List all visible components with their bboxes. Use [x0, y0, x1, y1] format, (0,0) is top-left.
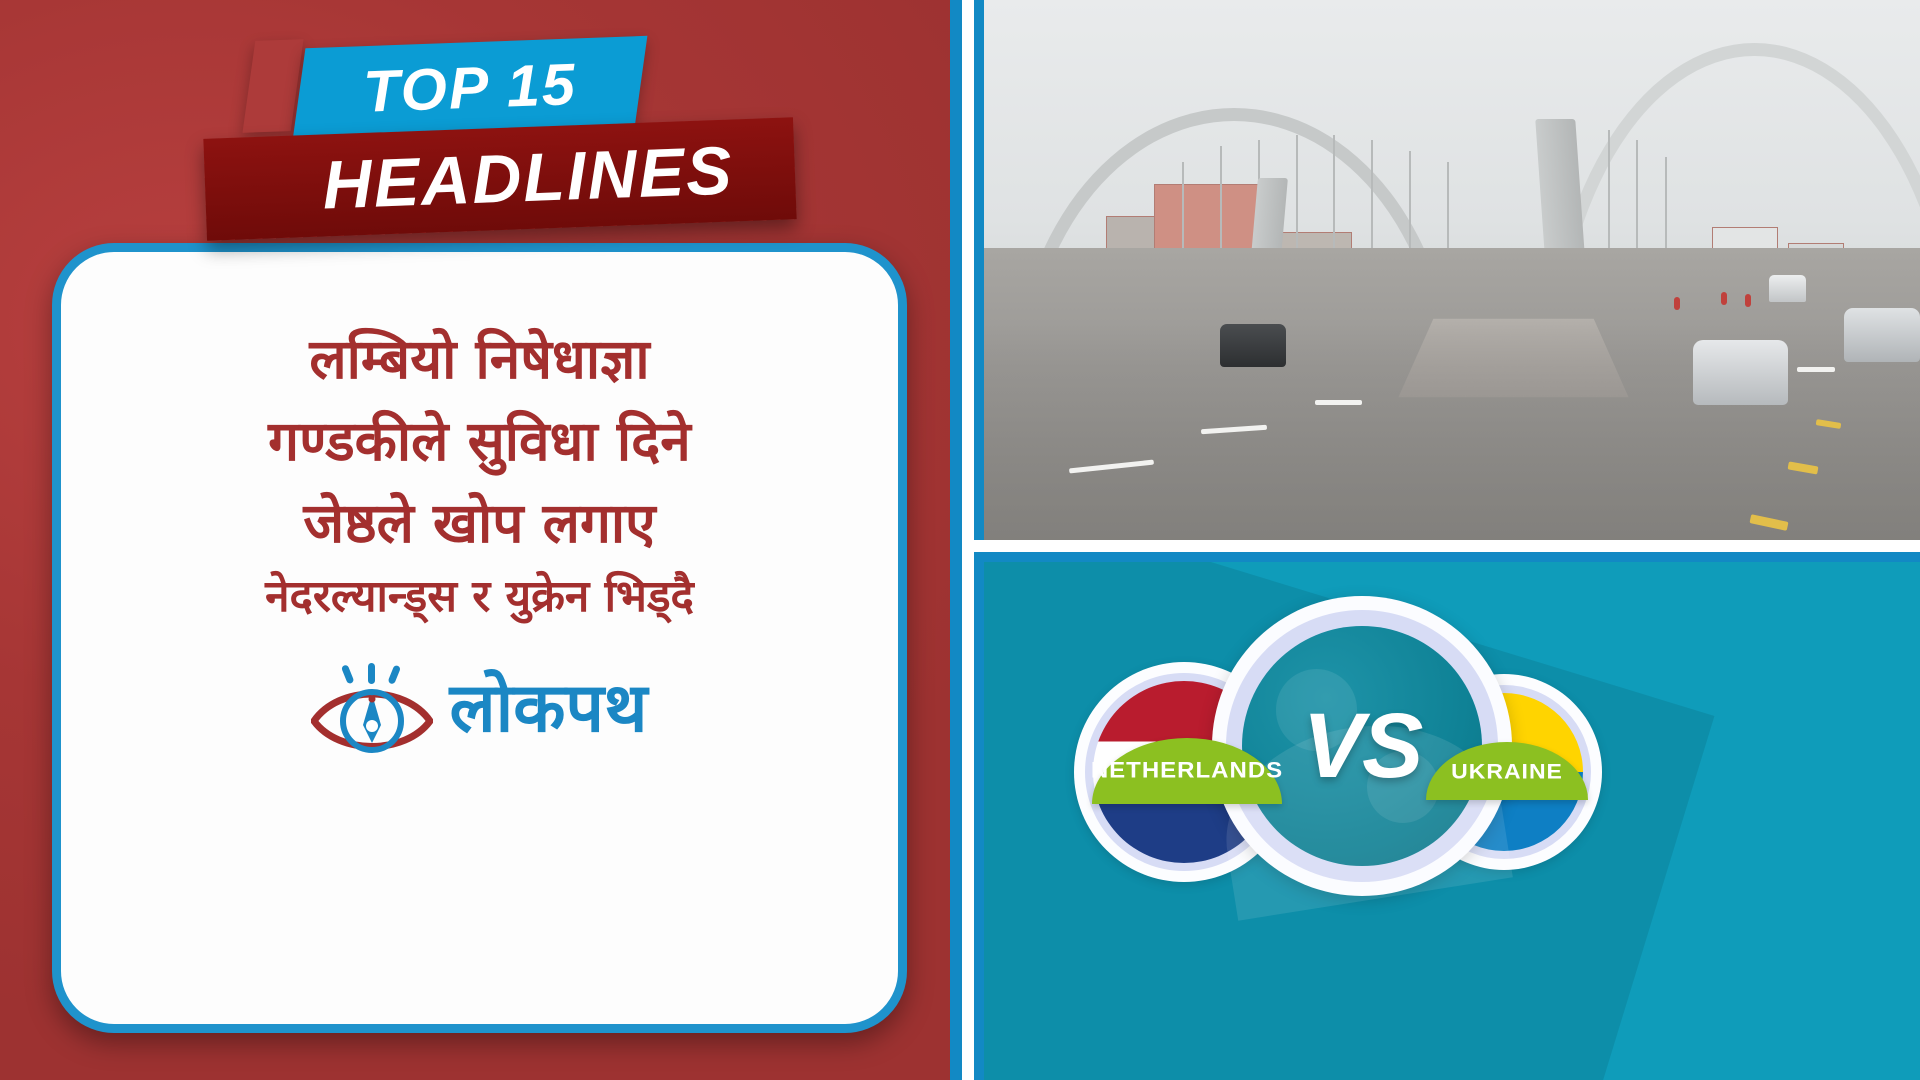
vehicle — [1769, 275, 1807, 302]
vs-emblem: VS — [1212, 596, 1512, 896]
netherlands-name-label: NETHERLANDS — [1091, 758, 1283, 784]
road-median — [1398, 319, 1628, 398]
vs-label: VS — [1212, 596, 1512, 896]
vehicle — [1220, 324, 1286, 367]
top15-notch-decoration — [242, 39, 303, 133]
lane-marking — [1315, 400, 1362, 405]
brand-logo: लोकपथ — [311, 663, 647, 755]
headline-item: नेदरल्यान्ड्स र युक्रेन भिड्दै — [265, 565, 694, 629]
headlines-badge: HEADLINES — [203, 117, 796, 241]
headline-item: लम्बियो निषेधाज्ञा — [309, 320, 649, 400]
pedestrian — [1745, 294, 1751, 307]
headlines-label: HEADLINES — [265, 131, 734, 226]
bridge-road-photo — [974, 0, 1920, 540]
vehicle — [1693, 340, 1788, 405]
photo-left-border — [974, 0, 984, 540]
headline-list: लम्बियो निषेधाज्ञा गण्डकीले सुविधा दिने … — [95, 320, 864, 629]
pedestrian — [1721, 292, 1727, 305]
match-vs-graphic: VS NETHERLANDS UKRAINE — [974, 552, 1920, 1080]
eye-pen-icon — [311, 663, 433, 755]
panel-left-border — [974, 552, 984, 1080]
left-headline-panel: TOP 15 HEADLINES लम्बियो निषेधाज्ञा गण्ड… — [0, 0, 962, 1080]
panel-top-border — [974, 552, 1920, 562]
ukraine-name-label: UKRAINE — [1451, 759, 1563, 784]
vehicle — [1844, 308, 1920, 362]
headline-card: लम्बियो निषेधाज्ञा गण्डकीले सुविधा दिने … — [52, 243, 907, 1033]
headline-item: जेष्ठले खोप लगाए — [303, 484, 655, 564]
pedestrian — [1674, 297, 1680, 310]
brand-name: लोकपथ — [449, 675, 647, 743]
headline-item: गण्डकीले सुविधा दिने — [268, 402, 691, 482]
lane-marking — [1797, 367, 1835, 372]
top15-label: TOP 15 — [362, 50, 578, 125]
screenshot-root: TOP 15 HEADLINES लम्बियो निषेधाज्ञा गण्ड… — [0, 0, 1920, 1080]
